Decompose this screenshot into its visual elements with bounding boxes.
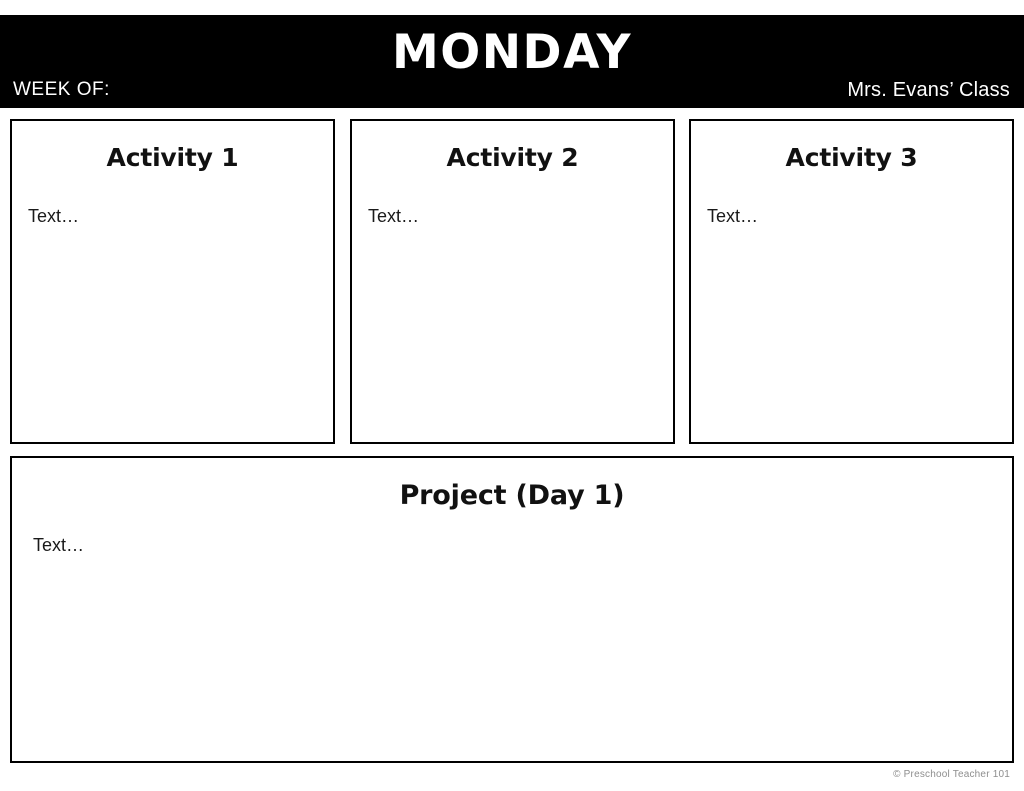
page-title: MONDAY [0, 27, 1024, 79]
project-heading: Project (Day 1) [12, 480, 1012, 512]
activity-2-heading: Activity 2 [352, 143, 673, 173]
activity-box-1[interactable]: Activity 1 Text… [10, 119, 335, 444]
project-text[interactable]: Text… [33, 534, 84, 556]
activity-1-heading: Activity 1 [12, 143, 333, 173]
activity-box-2[interactable]: Activity 2 Text… [350, 119, 675, 444]
footer-credit: © Preschool Teacher 101 [893, 768, 1010, 781]
activity-2-text[interactable]: Text… [368, 205, 419, 227]
activity-3-heading: Activity 3 [691, 143, 1012, 173]
lesson-plan-page: MONDAY WEEK OF: Mrs. Evans’ Class Activi… [0, 0, 1024, 791]
project-box[interactable]: Project (Day 1) Text… [10, 456, 1014, 763]
class-name-label: Mrs. Evans’ Class [847, 79, 1010, 102]
activity-row: Activity 1 Text… Activity 2 Text… Activi… [10, 119, 1014, 444]
activity-3-text[interactable]: Text… [707, 205, 758, 227]
header-banner: MONDAY WEEK OF: Mrs. Evans’ Class [0, 15, 1024, 108]
activity-box-3[interactable]: Activity 3 Text… [689, 119, 1014, 444]
week-of-label: WEEK OF: [13, 79, 110, 101]
activity-1-text[interactable]: Text… [28, 205, 79, 227]
